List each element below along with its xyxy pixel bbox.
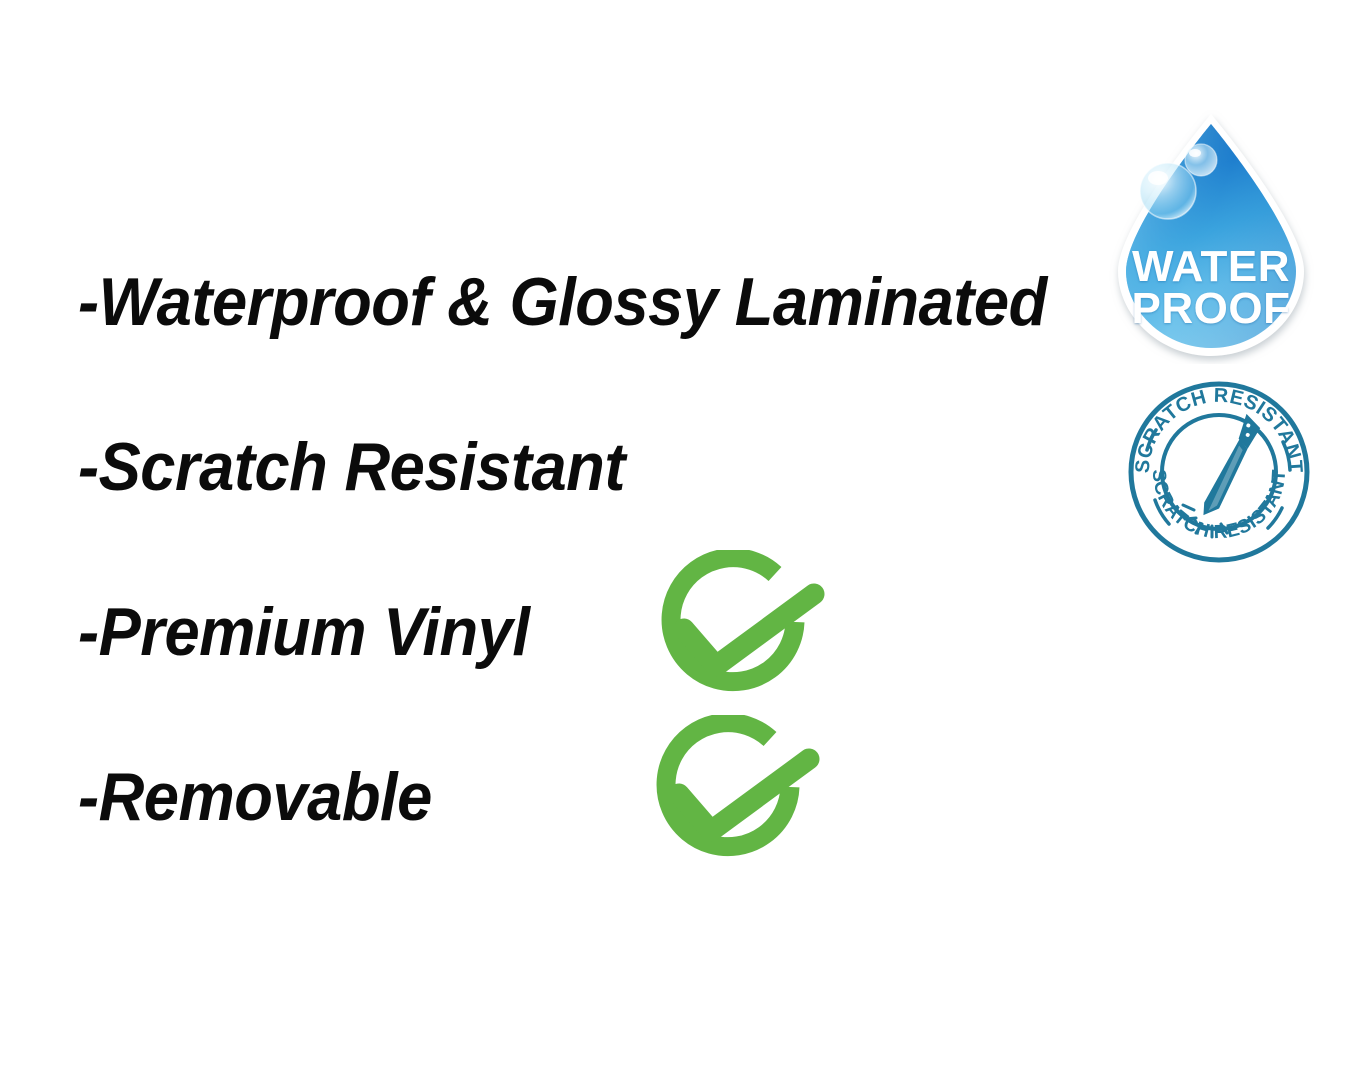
waterproof-badge: WATER PROOF: [1108, 108, 1314, 364]
water-drop-icon: [1108, 108, 1314, 364]
feature-item-waterproof: -Waterproof & Glossy Laminated: [78, 252, 1027, 417]
check-mark-removable: [635, 715, 835, 880]
knife-icon: [1200, 412, 1263, 523]
bubble-large-highlight: [1148, 171, 1168, 185]
circle-check-icon: [640, 550, 840, 715]
scratch-resistant-stamp-icon: SCRATCH RESISTANT SCRATCH RESISTANT: [1124, 378, 1314, 566]
scratch-resistant-badge: SCRATCH RESISTANT SCRATCH RESISTANT: [1124, 378, 1314, 566]
knife-blade-highlight: [1208, 444, 1243, 514]
product-features-graphic: -Waterproof & Glossy Laminated -Scratch …: [0, 0, 1359, 1080]
stamp-text-top: SCRATCH RESISTANT: [1132, 385, 1307, 474]
feature-item-premium-vinyl: -Premium Vinyl: [78, 582, 1027, 747]
bubble-small-icon: [1185, 144, 1217, 176]
bubble-large-icon: [1140, 163, 1196, 219]
check-mark-premium-vinyl: [640, 550, 840, 715]
feature-item-scratch-resistant: -Scratch Resistant: [78, 417, 1027, 582]
circle-check-icon: [635, 715, 835, 880]
bubble-small-highlight: [1189, 149, 1201, 157]
feature-list: -Waterproof & Glossy Laminated -Scratch …: [78, 252, 1098, 912]
feature-item-removable: -Removable: [78, 747, 1027, 912]
